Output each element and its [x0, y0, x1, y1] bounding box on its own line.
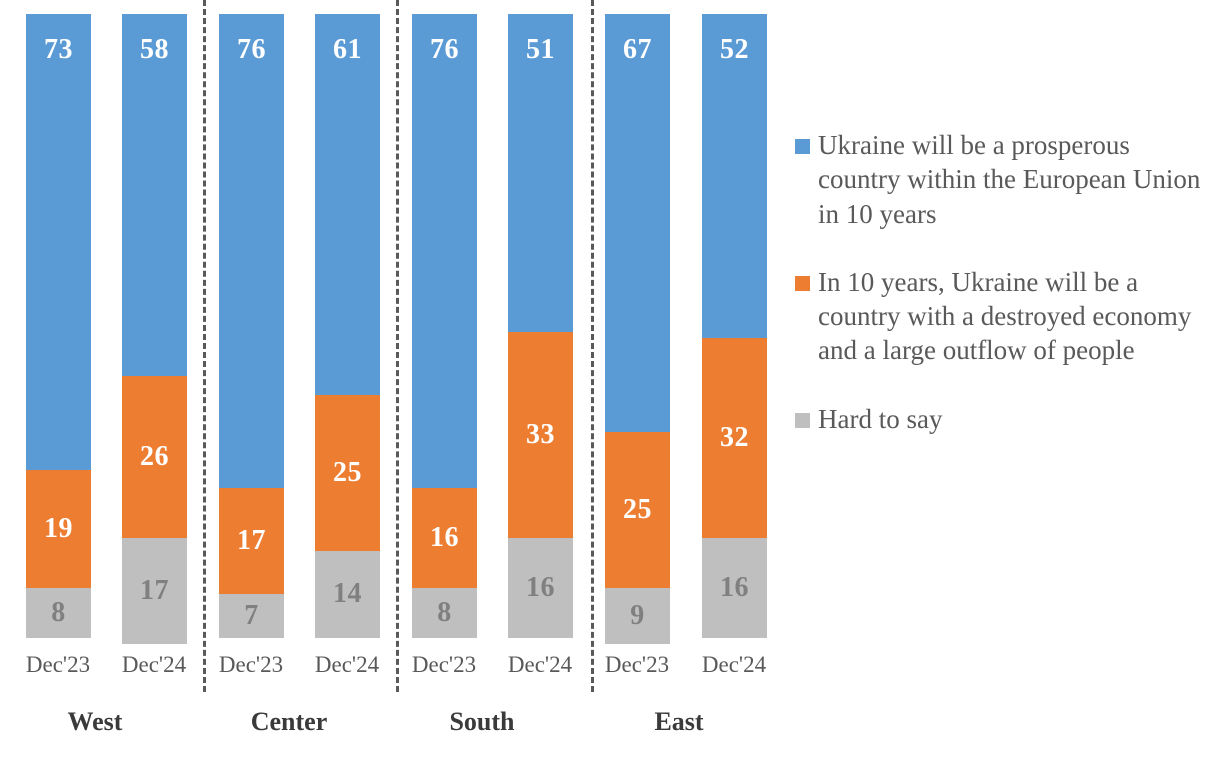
- period-label: Dec'23: [389, 652, 499, 678]
- bar-segment-destroyed: 25: [605, 432, 670, 588]
- plot-area: 7319858261776177612514761685133166725952…: [0, 0, 790, 700]
- bar-segment-prosperous: 51: [508, 14, 573, 332]
- group-label-east: East: [579, 707, 779, 737]
- legend-label: Ukraine will be a prosperous country wit…: [818, 128, 1215, 231]
- bar-segment-value: 76: [237, 36, 266, 64]
- bar-segment-hard: 16: [702, 538, 767, 638]
- bar-segment-value: 17: [237, 527, 266, 555]
- bar-segment-value: 14: [333, 580, 362, 608]
- bar-segment-hard: 7: [219, 594, 284, 638]
- bar-segment-hard: 16: [508, 538, 573, 638]
- bar-east-dec24: 523216: [702, 14, 767, 638]
- bar-segment-value: 67: [623, 36, 652, 64]
- bar-segment-destroyed: 19: [26, 470, 91, 589]
- bar-segment-destroyed: 16: [412, 488, 477, 588]
- period-label: Dec'24: [292, 652, 402, 678]
- bar-segment-value: 33: [526, 421, 555, 449]
- bar-segment-prosperous: 61: [315, 14, 380, 395]
- legend-label: In 10 years, Ukraine will be a country w…: [818, 265, 1215, 368]
- bar-segment-hard: 8: [26, 588, 91, 638]
- bar-segment-destroyed: 33: [508, 332, 573, 538]
- period-label: Dec'24: [99, 652, 209, 678]
- legend-swatch-icon: [795, 276, 810, 291]
- group-divider: [591, 0, 594, 692]
- bar-segment-value: 76: [430, 36, 459, 64]
- bar-segment-prosperous: 73: [26, 14, 91, 470]
- bar-segment-value: 16: [526, 574, 555, 602]
- bar-segment-prosperous: 58: [122, 14, 187, 376]
- bar-segment-value: 58: [140, 36, 169, 64]
- legend-swatch-icon: [795, 139, 810, 154]
- bar-segment-value: 17: [140, 577, 169, 605]
- bar-segment-value: 19: [44, 515, 73, 543]
- group-label-center: Center: [189, 707, 389, 737]
- bar-segment-hard: 14: [315, 551, 380, 638]
- group-divider: [203, 0, 206, 692]
- bar-segment-hard: 9: [605, 588, 670, 644]
- group-label-south: South: [382, 707, 582, 737]
- legend-swatch-icon: [795, 413, 810, 428]
- bar-south-dec24: 513316: [508, 14, 573, 638]
- bar-segment-value: 16: [430, 524, 459, 552]
- bar-west-dec24: 582617: [122, 14, 187, 638]
- period-label: Dec'23: [196, 652, 306, 678]
- bar-segment-prosperous: 76: [412, 14, 477, 488]
- bar-center-dec24: 612514: [315, 14, 380, 638]
- bar-segment-hard: 8: [412, 588, 477, 638]
- bar-segment-value: 25: [623, 496, 652, 524]
- period-label: Dec'24: [485, 652, 595, 678]
- bar-segment-value: 8: [51, 599, 66, 627]
- bar-segment-value: 26: [140, 443, 169, 471]
- bar-west-dec23: 73198: [26, 14, 91, 638]
- bar-segment-destroyed: 26: [122, 376, 187, 538]
- bar-segment-value: 8: [437, 599, 452, 627]
- legend-item-prosperous[interactable]: Ukraine will be a prosperous country wit…: [795, 128, 1215, 231]
- bar-segment-value: 32: [720, 424, 749, 452]
- group-divider: [396, 0, 399, 692]
- bar-segment-value: 73: [44, 36, 73, 64]
- bar-south-dec23: 76168: [412, 14, 477, 638]
- bar-segment-value: 52: [720, 36, 749, 64]
- bar-segment-value: 16: [720, 574, 749, 602]
- period-label: Dec'23: [3, 652, 113, 678]
- bar-segment-destroyed: 32: [702, 338, 767, 538]
- stacked-bar-chart: 7319858261776177612514761685133166725952…: [0, 0, 1217, 770]
- chart-legend: Ukraine will be a prosperous country wit…: [795, 128, 1215, 470]
- bar-segment-destroyed: 17: [219, 488, 284, 594]
- bar-segment-value: 7: [244, 602, 259, 630]
- bar-segment-value: 51: [526, 36, 555, 64]
- legend-item-destroyed[interactable]: In 10 years, Ukraine will be a country w…: [795, 265, 1215, 368]
- bar-segment-prosperous: 67: [605, 14, 670, 432]
- legend-label: Hard to say: [818, 402, 942, 436]
- bar-segment-prosperous: 76: [219, 14, 284, 488]
- bar-center-dec23: 76177: [219, 14, 284, 638]
- bar-segment-value: 9: [630, 602, 645, 630]
- bar-segment-value: 25: [333, 459, 362, 487]
- bar-segment-value: 61: [333, 36, 362, 64]
- group-label-west: West: [0, 707, 195, 737]
- bar-segment-destroyed: 25: [315, 395, 380, 551]
- bar-east-dec23: 67259: [605, 14, 670, 638]
- period-label: Dec'23: [582, 652, 692, 678]
- bar-segment-prosperous: 52: [702, 14, 767, 338]
- bar-segment-hard: 17: [122, 538, 187, 644]
- legend-item-hard[interactable]: Hard to say: [795, 402, 1215, 436]
- period-label: Dec'24: [679, 652, 789, 678]
